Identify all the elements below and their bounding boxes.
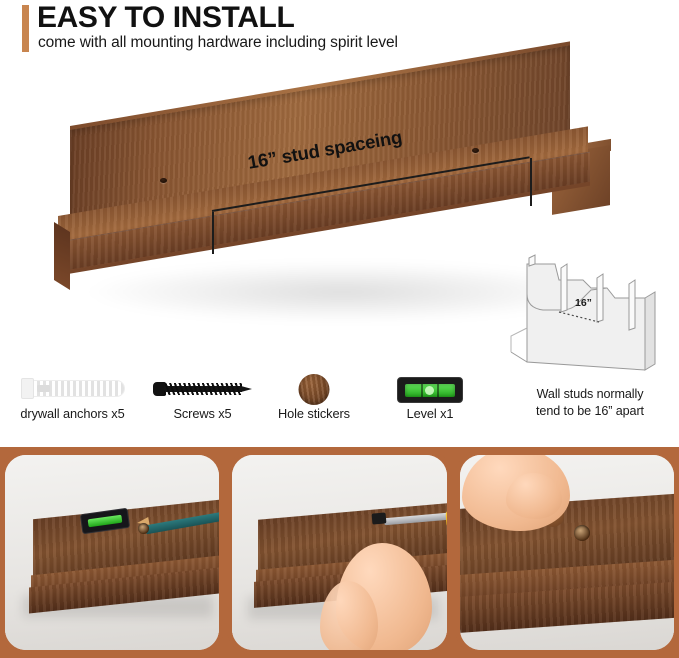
photo-step-apply-sticker: [455, 450, 679, 655]
hardware-label: Level x1: [370, 406, 490, 421]
mounting-hole: [472, 148, 479, 153]
hardware-item-level: Level x1: [370, 368, 490, 421]
stud-measure-label: 16”: [575, 297, 592, 309]
hardware-label: drywall anchors x5: [5, 406, 140, 421]
stud-diagram-caption: Wall studs normally tend to be 16” apart: [507, 386, 673, 419]
hardware-item-hole-stickers: Hole stickers: [258, 368, 370, 421]
page-title: EASY TO INSTALL: [37, 1, 294, 35]
header: EASY TO INSTALL come with all mounting h…: [0, 0, 679, 72]
dimension-tick-right: [530, 158, 532, 206]
wall-stud-diagram: 16” Wall studs normally tend to be 16” a…: [499, 250, 671, 446]
hardware-label: Hole stickers: [258, 406, 370, 421]
photo-step-drive-screw: [227, 450, 451, 655]
hardware-list: drywall anchors x5 Screws x5 Hole sticke…: [0, 368, 510, 446]
accent-bar: [22, 5, 29, 52]
stud-caption-line1: Wall studs normally: [537, 387, 644, 401]
screw-icon: [140, 368, 265, 406]
hole-sticker-icon: [258, 368, 370, 406]
spirit-level-icon: [370, 368, 490, 406]
page-subtitle: come with all mounting hardware includin…: [38, 34, 398, 52]
wall-stud-svg: 16”: [499, 250, 671, 384]
dimension-tick-left: [212, 212, 214, 254]
hardware-item-screws: Screws x5: [140, 368, 265, 421]
mounting-hole: [160, 178, 167, 183]
stud-caption-line2: tend to be 16” apart: [536, 404, 644, 418]
shelf-left-end-cap: [54, 222, 70, 290]
hardware-label: Screws x5: [140, 406, 265, 421]
hardware-item-drywall-anchors: drywall anchors x5: [5, 368, 140, 421]
photo-step-level-and-mark: [0, 450, 224, 655]
photo-strip: [0, 447, 679, 658]
drywall-anchor-icon: [5, 368, 140, 406]
